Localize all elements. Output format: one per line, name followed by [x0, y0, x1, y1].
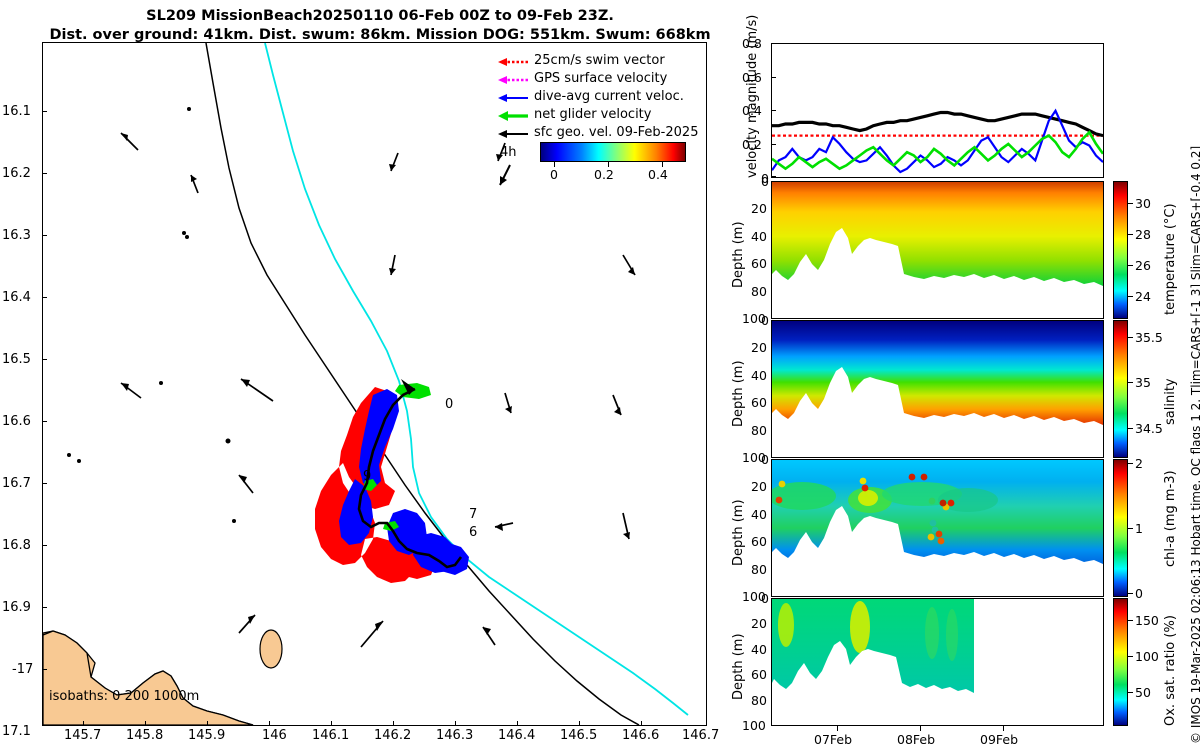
- map-xtick: 145.8: [126, 728, 163, 743]
- chla-section-panel[interactable]: [771, 459, 1104, 597]
- time-tick: 09Feb: [980, 732, 1018, 747]
- cb-tick: 1: [1135, 521, 1143, 536]
- sfc-geo-velocity-icon: [496, 127, 530, 141]
- cb-tick: 34.5: [1135, 421, 1163, 436]
- oxygen-section: [772, 599, 1103, 725]
- map-xtick: 146.3: [436, 728, 473, 743]
- temperature-colorbar: [1113, 181, 1128, 319]
- map-ytick: 16.8: [2, 538, 31, 553]
- swim-vector-icon: [496, 55, 530, 69]
- cb-tick: 100: [1135, 649, 1159, 664]
- map-ytick: 16.3: [2, 228, 31, 243]
- map-ytick: 16.2: [2, 166, 31, 181]
- velocity-ytick: 0.4: [742, 103, 762, 118]
- depth-tick: 0: [761, 174, 769, 189]
- depth-tick: 80: [751, 693, 767, 708]
- velocity-ytick: 0.2: [742, 137, 762, 152]
- map-ytick: 16.7: [2, 476, 31, 491]
- salinity-ylabel: Depth (m): [731, 360, 746, 427]
- time-tick: 08Feb: [897, 732, 935, 747]
- chla-colorbar: [1113, 459, 1128, 597]
- velocity-ytick: 0.6: [742, 70, 762, 85]
- depth-tick: 100: [742, 718, 766, 733]
- cb-tick: 28: [1135, 227, 1151, 242]
- depth-tick: 20: [751, 616, 767, 631]
- depth-tick: 40: [751, 368, 767, 383]
- depth-tick: 40: [751, 229, 767, 244]
- series-sfc-geo: [772, 113, 1103, 136]
- imos-credit: © IMOS 19-Mar-2025 02:06:13 Hobart time.…: [1189, 146, 1200, 744]
- page-title-line2: Dist. over ground: 41km. Dist. swum: 86k…: [0, 27, 760, 43]
- land-mainland: [43, 631, 253, 725]
- cb-tick: 50: [1135, 685, 1151, 700]
- map-xtick: 146.1: [312, 728, 349, 743]
- temperature-section: [772, 182, 1103, 318]
- oxygen-colorbar: [1113, 598, 1128, 726]
- dive-avg-current-icon: [496, 91, 530, 105]
- salinity-colorbar: [1113, 320, 1128, 458]
- map-xtick: 146.4: [498, 728, 535, 743]
- depth-tick: 40: [751, 642, 767, 657]
- colorbar-tick: 0: [550, 167, 558, 182]
- chla-ylabel: Depth (m): [731, 499, 746, 566]
- map-ytick: 17.1: [2, 724, 31, 739]
- map-velocity-colorbar: [540, 142, 686, 162]
- scale-4h-label: 4h: [500, 145, 517, 160]
- salinity-section-panel[interactable]: [771, 320, 1104, 458]
- map-xtick: 145.9: [188, 728, 225, 743]
- cb-tick: 35: [1135, 375, 1151, 390]
- depth-tick: 80: [751, 423, 767, 438]
- legend-row-netglider: net glider velocity: [496, 109, 530, 123]
- map-xtick: 146: [262, 728, 287, 743]
- map-xtick: 146.7: [682, 728, 719, 743]
- map-ytick: 16.5: [2, 352, 31, 367]
- legend-label: GPS surface velocity: [534, 71, 667, 86]
- cb-tick: 30: [1135, 196, 1151, 211]
- oxygen-cblabel: Ox. sat. ratio (%): [1163, 615, 1178, 726]
- track-label-9: 9: [363, 469, 371, 484]
- map-xtick: 145.7: [64, 728, 101, 743]
- map-xtick: 146.2: [374, 728, 411, 743]
- scale-vector-icon: [496, 163, 516, 189]
- salinity-section: [772, 321, 1103, 457]
- depth-tick: 80: [751, 284, 767, 299]
- oxygen-ylabel: Depth (m): [731, 633, 746, 700]
- depth-tick: 0: [761, 452, 769, 467]
- velocity-ytick: 0.8: [742, 36, 762, 51]
- legend-label: sfc geo. vel. 09-Feb-2025: [534, 125, 698, 140]
- cb-tick: 150: [1135, 613, 1159, 628]
- depth-tick: 60: [751, 534, 767, 549]
- isobath-legend: isobaths: 0 200 1000m: [49, 689, 199, 704]
- legend-label: 25cm/s swim vector: [534, 53, 665, 68]
- depth-tick: 60: [751, 256, 767, 271]
- velocity-magnitude-panel[interactable]: [771, 43, 1104, 178]
- time-tick: 07Feb: [814, 732, 852, 747]
- map-ytick: 16.4: [2, 290, 31, 305]
- map-ytick: -17: [12, 662, 33, 677]
- oxygen-section-panel[interactable]: [771, 598, 1104, 726]
- station-dots: [67, 107, 236, 523]
- track-label-7: 7: [469, 507, 477, 522]
- depth-tick: 20: [751, 340, 767, 355]
- depth-tick: 40: [751, 507, 767, 522]
- island-polygon: [260, 630, 282, 668]
- legend-row-swim: 25cm/s swim vector: [496, 55, 530, 69]
- temperature-section-panel[interactable]: [771, 181, 1104, 319]
- net-glider-velocity-icon: [496, 109, 530, 123]
- depth-tick: 60: [751, 667, 767, 682]
- temperature-cblabel: temperature (°C): [1163, 203, 1178, 315]
- colorbar-tick: 0.2: [594, 167, 614, 182]
- cb-tick: 24: [1135, 289, 1151, 304]
- legend-row-gps: GPS surface velocity: [496, 73, 530, 87]
- cb-tick: 2: [1135, 456, 1143, 471]
- depth-tick: 20: [751, 201, 767, 216]
- track-label-0: 0: [445, 397, 453, 412]
- map-ytick: 16.9: [2, 600, 31, 615]
- cb-tick: 35.5: [1135, 330, 1163, 345]
- track-label-6: 6: [469, 525, 477, 540]
- map-ytick: 16.6: [2, 414, 31, 429]
- map-xtick: 146.5: [560, 728, 597, 743]
- salinity-cblabel: salinity: [1163, 378, 1178, 425]
- gps-velocity-icon: [496, 73, 530, 87]
- colorbar-tick: 0.4: [648, 167, 668, 182]
- map-xtick: 146.6: [622, 728, 659, 743]
- legend-row-sfcgeo: sfc geo. vel. 09-Feb-2025: [496, 127, 530, 141]
- depth-tick: 0: [761, 313, 769, 328]
- temperature-ylabel: Depth (m): [731, 221, 746, 288]
- page-title-line1: SL209 MissionBeach20250110 06-Feb 00Z to…: [0, 8, 760, 24]
- depth-tick: 80: [751, 562, 767, 577]
- chla-cblabel: chl-a (mg m-3): [1163, 470, 1178, 567]
- legend-label: dive-avg current veloc.: [534, 89, 684, 104]
- depth-tick: 0: [761, 591, 769, 606]
- velocity-plot: [772, 44, 1103, 177]
- chla-section: [772, 460, 1103, 596]
- legend-label: net glider velocity: [534, 107, 651, 122]
- cb-tick: 26: [1135, 258, 1151, 273]
- legend-row-diveavg: dive-avg current veloc.: [496, 91, 530, 105]
- map-ytick: 16.1: [2, 104, 31, 119]
- cb-tick: 0: [1135, 586, 1143, 601]
- depth-tick: 20: [751, 479, 767, 494]
- depth-tick: 60: [751, 395, 767, 410]
